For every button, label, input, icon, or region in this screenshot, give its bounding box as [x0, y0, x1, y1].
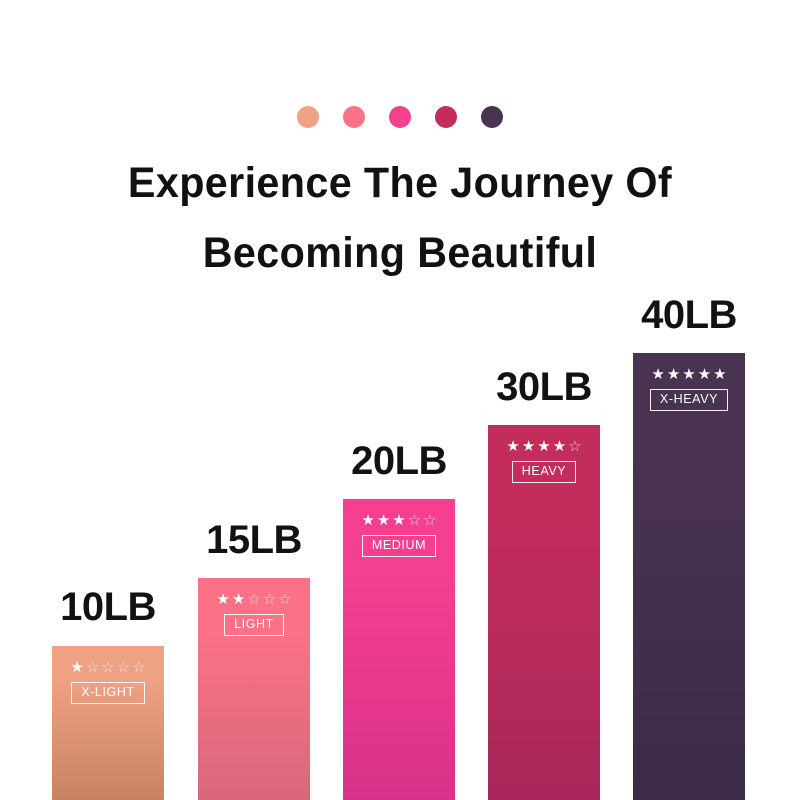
star-filled-icon: ★ — [392, 513, 405, 528]
bar-group-x-heavy[interactable]: 40LB★★★★★X-HEAVY — [633, 353, 745, 800]
bar-x-heavy[interactable]: ★★★★★X-HEAVY — [633, 353, 745, 800]
star-filled-icon: ★ — [506, 439, 519, 454]
star-filled-icon: ★ — [232, 592, 245, 607]
bar-weight-label: 10LB — [60, 586, 156, 628]
bar-heavy[interactable]: ★★★★☆HEAVY — [488, 425, 600, 800]
bar-content: ★★☆☆☆LIGHT — [198, 592, 310, 636]
star-filled-icon: ★ — [216, 592, 229, 607]
star-filled-icon: ★ — [70, 660, 83, 675]
bar-weight-label: 40LB — [641, 294, 737, 336]
bar-medium[interactable]: ★★★☆☆MEDIUM — [343, 499, 455, 800]
star-filled-icon: ★ — [667, 367, 680, 382]
level-chip: X-LIGHT — [71, 682, 145, 704]
star-empty-icon: ☆ — [86, 660, 99, 675]
bar-group-light[interactable]: 15LB★★☆☆☆LIGHT — [198, 578, 310, 800]
star-filled-icon: ★ — [553, 439, 566, 454]
star-empty-icon: ☆ — [278, 592, 291, 607]
star-filled-icon: ★ — [537, 439, 550, 454]
bar-group-x-light[interactable]: 10LB★☆☆☆☆X-LIGHT — [52, 646, 164, 800]
star-rating: ★★☆☆☆ — [216, 592, 291, 607]
level-chip: LIGHT — [224, 614, 284, 636]
star-filled-icon: ★ — [651, 367, 664, 382]
bar-weight-label: 15LB — [206, 519, 302, 561]
star-filled-icon: ★ — [377, 513, 390, 528]
level-chip: HEAVY — [512, 461, 576, 483]
star-rating: ★★★★☆ — [506, 439, 581, 454]
star-filled-icon: ★ — [361, 513, 374, 528]
bar-light[interactable]: ★★☆☆☆LIGHT — [198, 578, 310, 800]
resistance-level-bar-chart: 10LB★☆☆☆☆X-LIGHT15LB★★☆☆☆LIGHT20LB★★★☆☆M… — [0, 0, 800, 800]
bar-content: ★★★☆☆MEDIUM — [343, 513, 455, 557]
star-empty-icon: ☆ — [263, 592, 276, 607]
star-filled-icon: ★ — [713, 367, 726, 382]
bar-content: ★☆☆☆☆X-LIGHT — [52, 660, 164, 704]
star-rating: ★★★☆☆ — [361, 513, 436, 528]
bar-weight-label: 20LB — [351, 440, 447, 482]
star-empty-icon: ☆ — [247, 592, 260, 607]
star-empty-icon: ☆ — [408, 513, 421, 528]
level-chip: MEDIUM — [362, 535, 436, 557]
bar-content: ★★★★★X-HEAVY — [633, 367, 745, 411]
star-empty-icon: ☆ — [101, 660, 114, 675]
bar-group-heavy[interactable]: 30LB★★★★☆HEAVY — [488, 425, 600, 800]
star-empty-icon: ☆ — [117, 660, 130, 675]
bar-weight-label: 30LB — [496, 366, 592, 408]
infographic-canvas: Experience The Journey Of Becoming Beaut… — [0, 0, 800, 800]
star-empty-icon: ☆ — [568, 439, 581, 454]
star-empty-icon: ☆ — [132, 660, 145, 675]
bar-group-medium[interactable]: 20LB★★★☆☆MEDIUM — [343, 499, 455, 800]
level-chip: X-HEAVY — [650, 389, 728, 411]
bar-x-light[interactable]: ★☆☆☆☆X-LIGHT — [52, 646, 164, 800]
star-filled-icon: ★ — [522, 439, 535, 454]
star-filled-icon: ★ — [682, 367, 695, 382]
star-rating: ★☆☆☆☆ — [70, 660, 145, 675]
bar-content: ★★★★☆HEAVY — [488, 439, 600, 483]
star-empty-icon: ☆ — [423, 513, 436, 528]
star-filled-icon: ★ — [698, 367, 711, 382]
star-rating: ★★★★★ — [651, 367, 726, 382]
